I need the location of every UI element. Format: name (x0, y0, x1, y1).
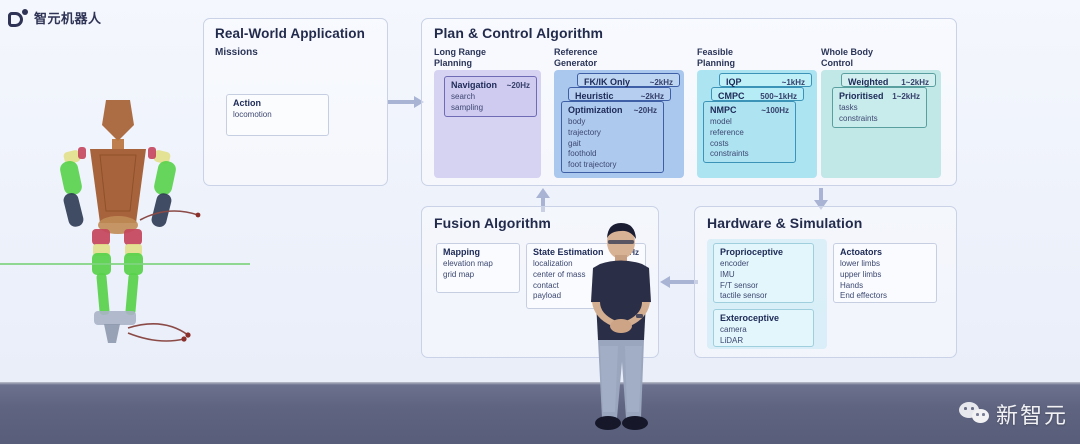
card-cmpc-hz: 500~1kHz (760, 92, 797, 101)
card-fk-ik-only[interactable]: FK/IK Only ~2kHz (577, 73, 680, 87)
robot-visualization (48, 95, 218, 350)
card-optimization-hz: ~20Hz (634, 106, 657, 115)
card-optimization-items: body trajectory gait foothold foot traje… (568, 117, 657, 171)
card-fk-ik-only-hz: ~2kHz (650, 78, 673, 87)
card-mapping[interactable]: Mapping elevation map grid map (436, 243, 520, 293)
card-fk-ik-only-name: FK/IK Only (584, 77, 630, 87)
group-label-feasible-planning: Feasible Planning (697, 47, 735, 70)
group-label-reference-generator: Reference Generator (554, 47, 598, 70)
card-actoators[interactable]: Actoators lower limbs upper limbs Hands … (833, 243, 937, 303)
robot-skeleton-icon (48, 95, 218, 350)
panel-hardware-simulation[interactable]: Hardware & Simulation Proprioceptive enc… (694, 206, 957, 358)
card-weighted-hz: 1~2kHz (901, 78, 929, 87)
panel-title-plan-control: Plan & Control Algorithm (434, 25, 603, 41)
ground-line (0, 263, 250, 265)
card-actoators-items: lower limbs upper limbs Hands End effect… (840, 259, 930, 302)
brand-logo: 智元机器人 (8, 8, 102, 27)
card-prioritised-items: tasks constraints (839, 103, 920, 125)
card-proprioceptive-items: encoder IMU F/T sensor tactile sensor (720, 259, 807, 302)
card-navigation-name: Navigation (451, 80, 497, 90)
card-prioritised[interactable]: Prioritised 1~2kHz tasks constraints (832, 87, 927, 128)
wechat-watermark: 新智元 (959, 398, 1068, 430)
panel-real-world-application[interactable]: Real-World Application Missions Action l… (203, 18, 388, 186)
card-action[interactable]: Action locomotion (226, 94, 329, 136)
stage-floor (0, 382, 1080, 444)
card-navigation-items: search sampling (451, 92, 530, 114)
presenter-person (578, 222, 664, 434)
group-label-whole-body-control: Whole Body Control (821, 47, 873, 70)
card-iqp-name: IQP (726, 77, 742, 87)
watermark-label: 新智元 (996, 398, 1068, 430)
panel-title-fusion-algorithm: Fusion Algorithm (434, 215, 551, 231)
subtitle-missions: Missions (215, 47, 258, 60)
card-nmpc-items: model reference costs constraints (710, 117, 789, 160)
card-mapping-name: Mapping (443, 247, 480, 257)
card-navigation[interactable]: Navigation ~20Hz search sampling (444, 76, 537, 117)
slide-screenshot: 智元机器人 (0, 0, 1080, 444)
card-proprioceptive-name: Proprioceptive (720, 247, 783, 257)
panel-title-hardware-simulation: Hardware & Simulation (707, 215, 862, 231)
card-iqp-hz: ~1kHz (782, 78, 805, 87)
card-nmpc[interactable]: NMPC ~100Hz model reference costs constr… (703, 101, 796, 163)
card-heuristic[interactable]: Heuristic ~2kHz (568, 87, 671, 101)
card-exteroceptive-name: Exteroceptive (720, 313, 779, 323)
card-proprioceptive[interactable]: Proprioceptive encoder IMU F/T sensor ta… (713, 243, 814, 303)
card-action-items: locomotion (233, 110, 322, 121)
card-navigation-hz: ~20Hz (507, 81, 530, 90)
card-cmpc[interactable]: CMPC 500~1kHz (711, 87, 804, 101)
card-nmpc-name: NMPC (710, 105, 737, 115)
card-prioritised-name: Prioritised (839, 91, 884, 101)
card-optimization[interactable]: Optimization ~20Hz body trajectory gait … (561, 101, 664, 173)
card-heuristic-hz: ~2kHz (641, 92, 664, 101)
wechat-icon (959, 402, 989, 426)
card-prioritised-hz: 1~2kHz (892, 92, 920, 101)
arrow-hardware-to-fusion (660, 276, 698, 288)
card-action-name: Action (233, 98, 261, 108)
group-label-long-range-planning: Long Range Planning (434, 47, 486, 70)
card-heuristic-name: Heuristic (575, 91, 614, 101)
card-cmpc-name: CMPC (718, 91, 745, 101)
agibot-logo-icon (8, 9, 28, 27)
card-optimization-name: Optimization (568, 105, 623, 115)
card-exteroceptive[interactable]: Exteroceptive camera LiDAR (713, 309, 814, 347)
card-weighted[interactable]: Weighted 1~2kHz (841, 73, 936, 87)
card-mapping-items: elevation map grid map (443, 259, 513, 281)
card-weighted-name: Weighted (848, 77, 888, 87)
card-exteroceptive-items: camera LiDAR (720, 325, 807, 347)
card-nmpc-hz: ~100Hz (761, 106, 789, 115)
presenter-figure-icon (578, 222, 664, 434)
brand-logo-label: 智元机器人 (34, 8, 102, 27)
card-iqp[interactable]: IQP ~1kHz (719, 73, 812, 87)
card-actoators-name: Actoators (840, 247, 882, 257)
panel-plan-control-algorithm[interactable]: Plan & Control Algorithm Long Range Plan… (421, 18, 957, 186)
panel-title-real-world-application: Real-World Application (215, 26, 365, 41)
